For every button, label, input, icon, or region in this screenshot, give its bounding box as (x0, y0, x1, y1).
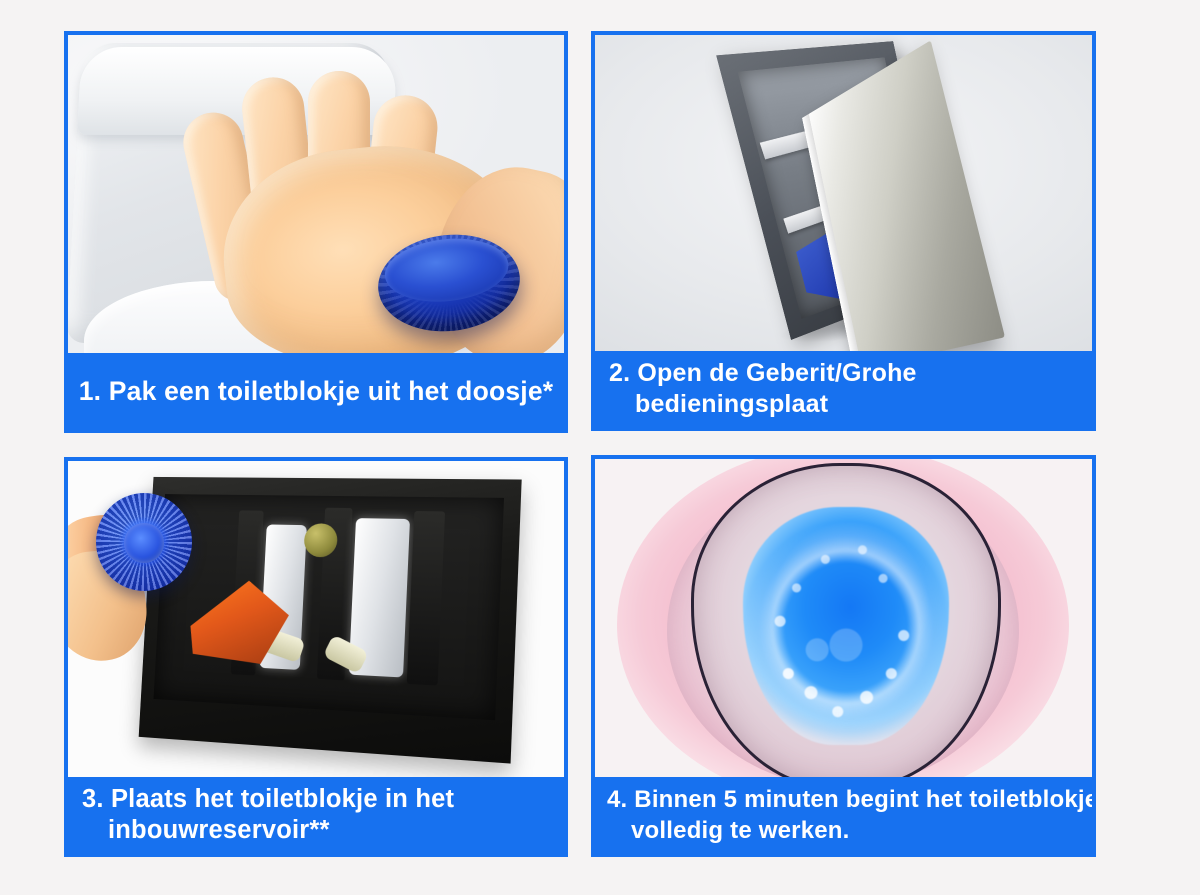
step-card-1[interactable]: 1. Pak een toiletblokje uit het doosje* (64, 31, 568, 433)
caption-line: 1. Pak een toiletblokje uit het doosje* (79, 376, 554, 407)
block-center-hub (124, 523, 164, 563)
step-3-photo (68, 461, 564, 777)
step-card-4[interactable]: 4. Binnen 5 minuten begint het toiletblo… (591, 455, 1096, 857)
hand-illustration (180, 49, 560, 353)
step-4-caption: 4. Binnen 5 minuten begint het toiletblo… (595, 777, 1092, 853)
step-3-caption: 3. Plaats het toiletblokje in het inbouw… (68, 777, 564, 853)
step-4-photo (595, 459, 1092, 777)
step-card-3[interactable]: 3. Plaats het toiletblokje in het inbouw… (64, 457, 568, 857)
caption-line-1: 3. Plaats het toiletblokje in het (82, 784, 564, 815)
concealed-cistern (139, 477, 522, 764)
step-1-photo (68, 35, 564, 353)
water-splash-ring (723, 493, 969, 761)
step-card-2[interactable]: 2. Open de Geberit/Grohe bedieningsplaat (591, 31, 1096, 431)
caption-line-2: bedieningsplaat (609, 389, 1092, 420)
caption-line-1: 2. Open de Geberit/Grohe (609, 358, 1092, 389)
step-2-caption: 2. Open de Geberit/Grohe bedieningsplaat (595, 351, 1092, 427)
hand-illustration (68, 485, 176, 665)
caption-line-1: 4. Binnen 5 minuten begint het toiletblo… (607, 784, 1092, 815)
blue-toilet-block (96, 493, 192, 591)
step-1-caption: 1. Pak een toiletblokje uit het doosje* (68, 353, 564, 429)
instruction-grid: 1. Pak een toiletblokje uit het doosje* … (0, 0, 1200, 895)
caption-line-2: inbouwreservoir** (82, 815, 564, 846)
step-2-photo (595, 35, 1092, 351)
caption-line-2: volledig te werken. (607, 815, 1092, 846)
